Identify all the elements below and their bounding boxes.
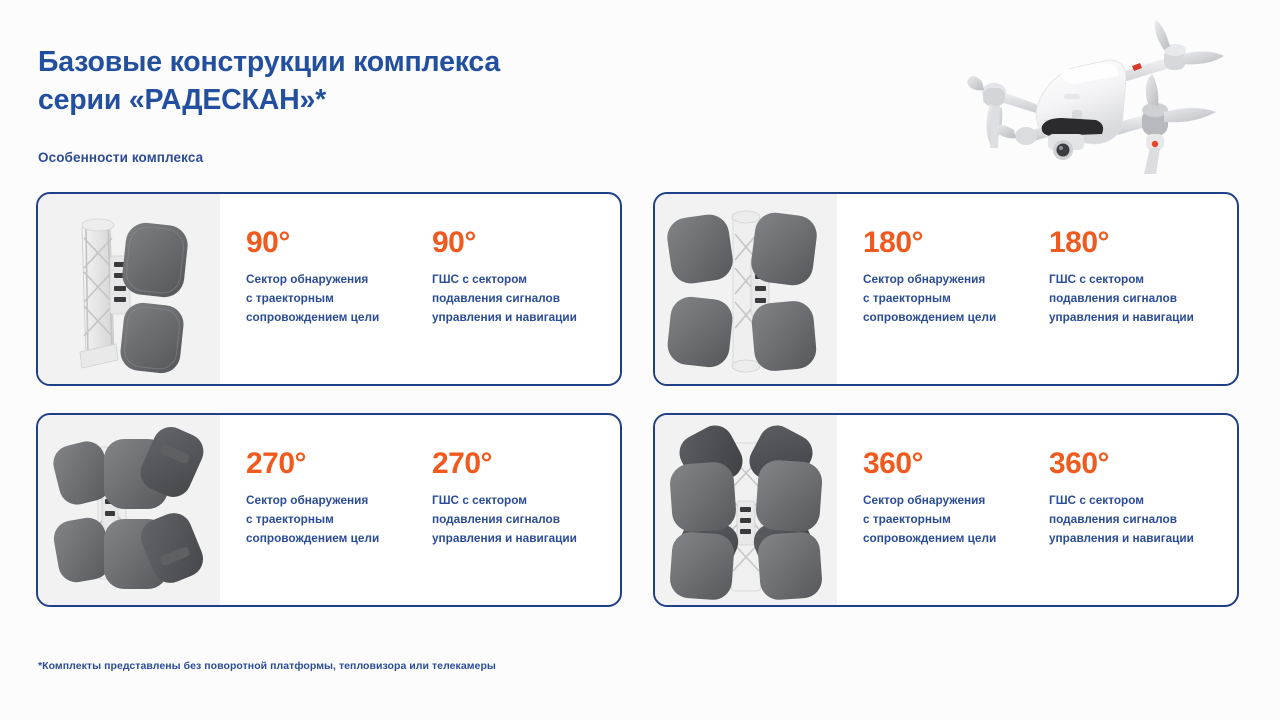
- antenna-array-270-degrees-icon: [38, 415, 220, 605]
- metric-description: Сектор обнаружения с траекторным сопрово…: [863, 270, 1049, 327]
- metric-description: ГШС с сектором подавления сигналов управ…: [1049, 270, 1239, 327]
- card-body-360: 360° Сектор обнаружения с траекторным со…: [837, 415, 1239, 605]
- antenna-array-360-degrees-icon: [655, 415, 837, 605]
- metric-jamming-sector: 360° ГШС с сектором подавления сигналов …: [1049, 449, 1239, 605]
- feature-card-360[interactable]: 360° Сектор обнаружения с траекторным со…: [653, 413, 1239, 607]
- page-title: Базовые конструкции комплекса серии «РАД…: [38, 44, 678, 119]
- metric-description: Сектор обнаружения с траекторным сопрово…: [246, 491, 432, 548]
- card-image-360: [655, 415, 837, 605]
- metric-jamming-sector: 180° ГШС с сектором подавления сигналов …: [1049, 228, 1239, 384]
- metric-value: 90°: [246, 228, 432, 258]
- metric-value: 90°: [432, 228, 622, 258]
- drone-photo: [864, 8, 1264, 188]
- feature-card-270[interactable]: 270° Сектор обнаружения с траекторным со…: [36, 413, 622, 607]
- metric-description: ГШС с сектором подавления сигналов управ…: [432, 491, 622, 548]
- quadcopter-drone-icon: [864, 8, 1264, 188]
- slide-header: Базовые конструкции комплекса серии «РАД…: [38, 44, 678, 119]
- card-body-180: 180° Сектор обнаружения с траекторным со…: [837, 194, 1239, 384]
- metric-value: 180°: [863, 228, 1049, 258]
- card-image-180: [655, 194, 837, 384]
- metric-value: 180°: [1049, 228, 1239, 258]
- cards-grid: 90° Сектор обнаружения с траекторным соп…: [36, 192, 1244, 607]
- metric-jamming-sector: 270° ГШС с сектором подавления сигналов …: [432, 449, 622, 605]
- metric-value: 360°: [863, 449, 1049, 479]
- metric-description: ГШС с сектором подавления сигналов управ…: [1049, 491, 1239, 548]
- card-image-270: [38, 415, 220, 605]
- metric-value: 270°: [246, 449, 432, 479]
- footnote: *Комплекты представлены без поворотной п…: [38, 660, 496, 672]
- metric-description: Сектор обнаружения с траекторным сопрово…: [863, 491, 1049, 548]
- feature-card-90[interactable]: 90° Сектор обнаружения с траекторным соп…: [36, 192, 622, 386]
- section-subtitle: Особенности комплекса: [38, 150, 203, 165]
- antenna-array-90-degrees-icon: [38, 194, 220, 384]
- metric-description: ГШС с сектором подавления сигналов управ…: [432, 270, 622, 327]
- metric-detection-sector: 90° Сектор обнаружения с траекторным соп…: [246, 228, 432, 384]
- metric-detection-sector: 360° Сектор обнаружения с траекторным со…: [863, 449, 1049, 605]
- metric-value: 270°: [432, 449, 622, 479]
- metric-description: Сектор обнаружения с траекторным сопрово…: [246, 270, 432, 327]
- metric-detection-sector: 180° Сектор обнаружения с траекторным со…: [863, 228, 1049, 384]
- card-body-90: 90° Сектор обнаружения с траекторным соп…: [220, 194, 622, 384]
- feature-card-180[interactable]: 180° Сектор обнаружения с траекторным со…: [653, 192, 1239, 386]
- antenna-array-180-degrees-icon: [655, 194, 837, 384]
- metric-detection-sector: 270° Сектор обнаружения с траекторным со…: [246, 449, 432, 605]
- card-image-90: [38, 194, 220, 384]
- metric-jamming-sector: 90° ГШС с сектором подавления сигналов у…: [432, 228, 622, 384]
- metric-value: 360°: [1049, 449, 1239, 479]
- card-body-270: 270° Сектор обнаружения с траекторным со…: [220, 415, 622, 605]
